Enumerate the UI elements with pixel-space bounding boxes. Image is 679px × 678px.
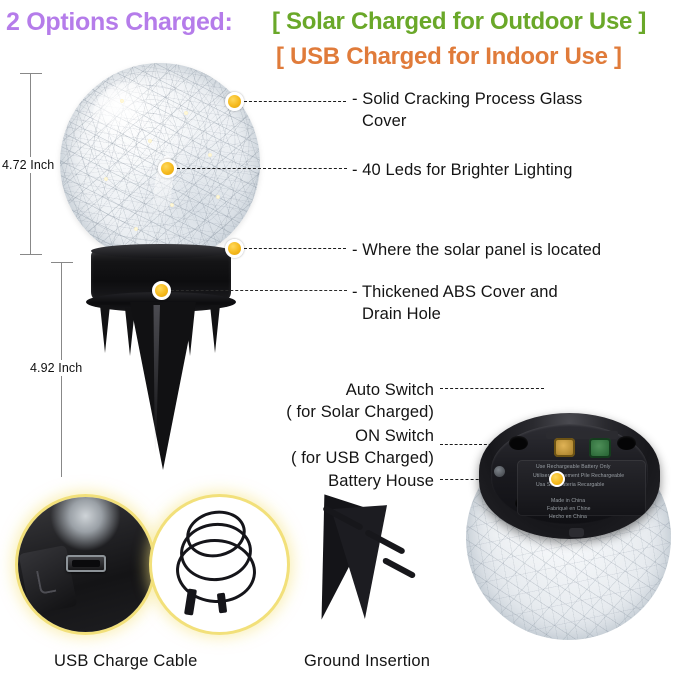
usb-a-connector [184, 588, 197, 615]
callout-label-auto-switch: Auto Switch ( for Solar Charged) [186, 379, 434, 423]
cap-text-line2: Utiliser Uniquement Pile Rechargeable [533, 473, 624, 479]
led-sparkle [208, 153, 212, 157]
auto-switch-solar[interactable] [589, 438, 611, 458]
led-sparkle [120, 99, 124, 103]
leader-line-abs-cover [171, 290, 347, 291]
leader-line-leds [177, 168, 347, 169]
led-sparkle [104, 177, 108, 181]
dim-cap-top [51, 262, 73, 263]
leader-line-solar-panel [244, 248, 346, 249]
cap-screw [494, 466, 505, 477]
leader-line-glass-cover [244, 101, 346, 102]
micro-usb-port [66, 555, 106, 572]
cap-text-line4: Made in China [551, 498, 585, 504]
callout-label-on-switch: ON Switch ( for USB Charged) [186, 425, 434, 469]
callout-text-line1: 40 Leds for Brighter Lighting [362, 161, 572, 179]
callout-text-line2: ( for Solar Charged) [286, 403, 434, 421]
page-title: 2 Options Charged: [6, 8, 233, 37]
cap-text-line5: Fabriqué en Chine [547, 506, 591, 512]
callout-label-leds: 40 Leds for Brighter Lighting [352, 159, 572, 181]
callout-text-line2: Cover [362, 110, 407, 132]
callout-text-line2: Drain Hole [362, 303, 441, 325]
cap-text-line3: Usa Solo Bateria Recargable [536, 482, 604, 488]
caption-ground-insertion: Ground Insertion [304, 652, 430, 671]
drain-hole [617, 436, 636, 450]
callout-dot-glass-cover[interactable] [225, 92, 244, 111]
drain-hole [509, 436, 528, 450]
callout-text-line1: ON Switch [355, 427, 434, 445]
callout-dot-battery-house[interactable] [549, 471, 565, 487]
led-sparkle [170, 203, 174, 207]
callout-text-line1: Thickened ABS Cover and [362, 283, 558, 301]
callout-label-abs-cover: Thickened ABS Cover and Drain Hole [352, 281, 558, 325]
callout-label-glass-cover: Solid Cracking Process Glass Cover [352, 88, 582, 132]
on-switch-usb[interactable] [554, 438, 575, 457]
dim-label-492: 4.92 Inch [28, 360, 84, 376]
dim-label-472: 4.72 Inch [0, 157, 56, 173]
side-spike [210, 305, 220, 353]
led-sparkle [184, 111, 188, 115]
callout-dot-abs-cover[interactable] [152, 281, 171, 300]
dim-cap-top [20, 73, 42, 74]
callout-dot-leds[interactable] [158, 159, 177, 178]
callout-label-solar-panel: Where the solar panel is located [352, 239, 601, 261]
usb-port-photo [18, 497, 153, 632]
led-sparkle [134, 227, 138, 231]
dim-cap-bottom [20, 254, 42, 255]
leader-line-auto-switch [440, 388, 544, 389]
led-sparkle [148, 139, 152, 143]
callout-text-line2: ( for USB Charged) [291, 449, 434, 467]
cap-text-line6: Hecho en China [549, 514, 587, 520]
callout-text-line1: Battery House [328, 472, 434, 490]
usb-charge-badge: [ USB Charged for Indoor Use ] [276, 43, 622, 71]
callout-text-line1: Auto Switch [346, 381, 434, 399]
callout-label-battery-house: Battery House [186, 470, 434, 492]
base-cap-assembly: Use Rechargeable Battery Only Utiliser U… [479, 413, 660, 539]
led-sparkle [216, 195, 220, 199]
cap-text-line1: Use Rechargeable Battery Only [536, 464, 611, 470]
usb-cable-photo [152, 497, 287, 632]
side-spike [100, 305, 110, 353]
solar-charge-badge: [ Solar Charged for Outdoor Use ] [272, 8, 646, 36]
ground-insertion-photo [305, 495, 445, 635]
callout-text-line1: Where the solar panel is located [362, 241, 601, 259]
callout-text-line1: Solid Cracking Process Glass [362, 90, 582, 108]
caption-usb-charge-cable: USB Charge Cable [54, 652, 198, 671]
callout-dot-solar-panel[interactable] [225, 239, 244, 258]
base-cap-inner-plate: Use Rechargeable Battery Only Utiliser U… [491, 424, 648, 524]
cap-release-tab[interactable] [569, 528, 584, 537]
